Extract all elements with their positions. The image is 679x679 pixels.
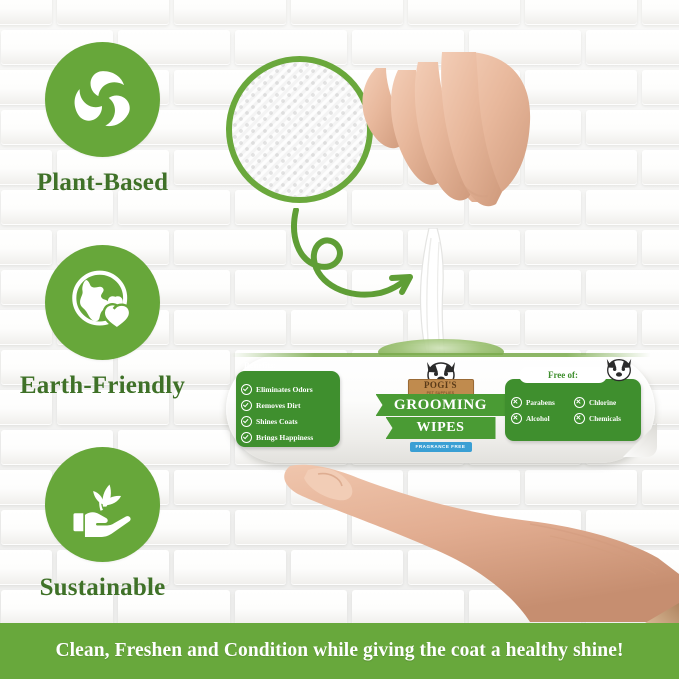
- hand-sprout-icon: [45, 447, 160, 562]
- brick: [642, 310, 679, 344]
- free-of-label: Chlorine: [589, 399, 616, 407]
- hand-holding-package: [230, 462, 679, 622]
- boston-terrier-peek-icon: [599, 356, 639, 386]
- brick: [586, 190, 679, 224]
- x-circle-icon: [511, 397, 522, 408]
- feature-badge-column: Plant-Based Earth-Friendly: [0, 0, 205, 615]
- feature-badge-label: Sustainable: [0, 574, 205, 602]
- free-of-label: Chemicals: [589, 415, 621, 423]
- benefit-label: Removes Dirt: [256, 401, 301, 410]
- free-of-item: Chemicals: [574, 413, 637, 424]
- recycle-leaves-icon: [45, 42, 160, 157]
- benefit-item: Shines Coats: [241, 413, 337, 429]
- check-icon: [241, 400, 252, 411]
- benefit-label: Shines Coats: [256, 417, 298, 426]
- x-circle-icon: [511, 413, 522, 424]
- free-of-title: Free of:: [519, 367, 607, 383]
- product-line-2-label: WIPES: [416, 420, 464, 436]
- free-of-label: Alcohol: [526, 415, 550, 423]
- fragrance-free-badge: FRAGRANCE FREE: [410, 442, 472, 452]
- check-icon: [241, 416, 252, 427]
- benefits-title: Benefits:: [244, 360, 276, 370]
- bottom-banner: Clean, Freshen and Condition while givin…: [0, 623, 679, 679]
- product-infographic: Plant-Based Earth-Friendly: [0, 0, 679, 679]
- brand-block: POGI'S PET SUPPLIES GROOMING WIPES FRAGR…: [375, 361, 507, 452]
- x-circle-icon: [574, 413, 585, 424]
- product-line-1: GROOMING: [376, 394, 506, 416]
- feature-badge-sustainable: Sustainable: [0, 447, 205, 602]
- brick: [586, 30, 679, 64]
- benefit-label: Eliminates Odors: [256, 385, 313, 394]
- free-of-label: Parabens: [526, 399, 555, 407]
- free-of-item: Alcohol: [511, 413, 574, 424]
- brick: [525, 70, 637, 104]
- free-of-item: Chlorine: [574, 397, 637, 408]
- free-of-item: Parabens: [511, 397, 574, 408]
- brick: [525, 150, 637, 184]
- brick: [586, 270, 679, 304]
- check-icon: [241, 432, 252, 443]
- free-of-list: Parabens Chlorine Alcohol Chemicals: [511, 397, 637, 424]
- boston-terrier-icon: POGI'S PET SUPPLIES: [375, 361, 507, 393]
- wipe-texture-icon: [226, 56, 373, 203]
- package-body: Benefits: Eliminates Odors Removes Dirt …: [226, 355, 655, 463]
- x-circle-icon: [574, 397, 585, 408]
- brick: [291, 0, 403, 24]
- brand-name: POGI'S: [409, 380, 473, 391]
- brick: [642, 0, 679, 24]
- benefit-label: Brings Happiness: [256, 433, 313, 442]
- brick: [586, 110, 679, 144]
- benefit-item: Eliminates Odors: [241, 381, 337, 397]
- benefits-panel: Benefits: Eliminates Odors Removes Dirt …: [236, 371, 340, 447]
- benefit-item: Removes Dirt: [241, 397, 337, 413]
- brick: [525, 310, 637, 344]
- benefit-item: Brings Happiness: [241, 429, 337, 445]
- brick: [525, 230, 637, 264]
- brick: [408, 0, 520, 24]
- package-seam: [230, 353, 651, 357]
- free-of-panel: Free of: Parabens: [505, 379, 641, 441]
- feature-badge-earth-friendly: Earth-Friendly: [0, 245, 205, 400]
- product-line-2: WIPES: [386, 417, 496, 439]
- product-package: Benefits: Eliminates Odors Removes Dirt …: [226, 355, 655, 463]
- feature-badge-plant-based: Plant-Based: [0, 42, 205, 197]
- globe-heart-icon: [45, 245, 160, 360]
- wipe-texture-pattern: [232, 62, 367, 197]
- benefits-list: Eliminates Odors Removes Dirt Shines Coa…: [241, 381, 337, 445]
- feature-badge-label: Plant-Based: [0, 169, 205, 197]
- brick: [525, 0, 637, 24]
- feature-badge-label: Earth-Friendly: [0, 372, 205, 400]
- product-line-1-label: GROOMING: [394, 397, 487, 414]
- bottom-banner-text: Clean, Freshen and Condition while givin…: [55, 640, 623, 662]
- brick: [642, 230, 679, 264]
- brick: [642, 70, 679, 104]
- check-icon: [241, 384, 252, 395]
- brick: [642, 150, 679, 184]
